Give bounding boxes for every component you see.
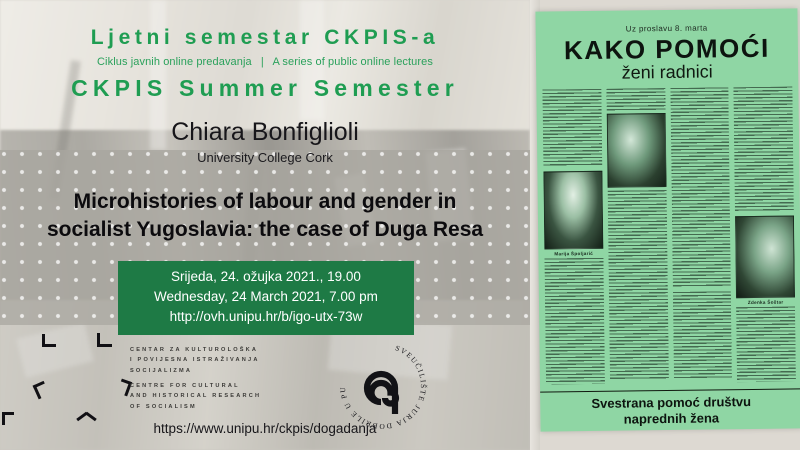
clipping-columns: Marija Špoljarić Zdenka Šoštar xyxy=(542,86,796,384)
newspaper-clipping: Uz proslavu 8. marta KAKO POMOĆI ženi ra… xyxy=(530,0,800,450)
clipping-portrait-photo xyxy=(543,171,603,250)
clipping-switchboard-photo xyxy=(735,215,795,298)
clipping-text xyxy=(734,86,794,212)
org-en-line-2: AND HISTORICAL RESEARCH xyxy=(130,393,261,399)
organisation-name-block: CENTAR ZA KULTUROLOŠKA I POVIJESNA ISTRA… xyxy=(130,345,330,412)
speaker-name: Chiara Bonfiglioli xyxy=(0,118,530,147)
clipping-page: Uz proslavu 8. marta KAKO POMOĆI ženi ra… xyxy=(535,8,800,431)
header-subtitle-separator: | xyxy=(255,56,270,68)
clipping-workers-photo xyxy=(606,113,666,188)
org-en-line-1: CENTRE FOR CULTURAL xyxy=(130,383,240,389)
clipping-footer-line-2: naprednih žena xyxy=(540,409,800,428)
org-hr-line-1: CENTAR ZA KULTUROLOŠKA xyxy=(130,347,258,353)
clipping-column-2 xyxy=(606,88,668,384)
org-hr-line-3: SOCIJALIZMA xyxy=(130,368,192,374)
event-date-en: Wednesday, 24 March 2021, 7.00 pm xyxy=(118,287,414,307)
org-spacer xyxy=(130,376,330,381)
poster-canvas: Ljetni semestar CKPIS-a Ciklus javnih on… xyxy=(0,0,800,450)
clipping-text xyxy=(606,88,665,111)
clipping-text xyxy=(542,89,602,168)
speaker-block: Chiara Bonfiglioli University College Co… xyxy=(0,118,530,165)
header-subtitle-en: A series of public online lectures xyxy=(272,56,433,68)
chevron-decoration xyxy=(97,333,112,348)
footer-url[interactable]: https://www.unipu.hr/ckpis/dogadanja xyxy=(0,421,530,436)
speaker-affiliation: University College Cork xyxy=(0,150,530,165)
clipping-column-3 xyxy=(670,87,732,383)
event-info-box: Srijeda, 24. ožujka 2021., 19.00 Wednesd… xyxy=(118,261,414,335)
talk-title-line-2: socialist Yugoslavia: the case of Duga R… xyxy=(0,216,530,244)
clipping-text xyxy=(672,291,732,380)
clipping-footer-headline: Svestrana pomoć društvu naprednih žena xyxy=(540,388,800,431)
org-en-line-3: OF SOCIALISM xyxy=(130,404,197,410)
org-hr-line-2: I POVIJESNA ISTRAŽIVANJA xyxy=(130,357,260,363)
event-date-hr: Srijeda, 24. ožujka 2021., 19.00 xyxy=(118,267,414,287)
clipping-text xyxy=(736,306,796,382)
clipping-portrait-caption: Marija Špoljarić xyxy=(544,251,603,257)
clipping-text xyxy=(544,258,604,385)
poster-header: Ljetni semestar CKPIS-a Ciklus javnih on… xyxy=(0,0,530,102)
event-join-link[interactable]: http://ovh.unipu.hr/b/igo-utx-73w xyxy=(118,307,414,327)
talk-title-line-1: Microhistories of labour and gender in xyxy=(0,188,530,216)
header-subtitle: Ciklus javnih online predavanja | A seri… xyxy=(0,56,530,68)
clipping-column-4: Zdenka Šoštar xyxy=(734,86,796,382)
chevron-decoration xyxy=(42,334,57,349)
clipping-text xyxy=(670,87,731,288)
clipping-column-1: Marija Špoljarić xyxy=(542,89,604,385)
header-subtitle-hr: Ciklus javnih online predavanja xyxy=(97,56,252,68)
header-title-hr: Ljetni semestar CKPIS-a xyxy=(0,26,530,50)
header-title-en: CKPIS Summer Semester xyxy=(0,75,530,102)
clipping-subheadline: ženi radnici xyxy=(536,60,798,84)
clipping-photo-caption: Zdenka Šoštar xyxy=(736,299,795,305)
clipping-text xyxy=(607,190,668,381)
talk-title: Microhistories of labour and gender in s… xyxy=(0,188,530,243)
